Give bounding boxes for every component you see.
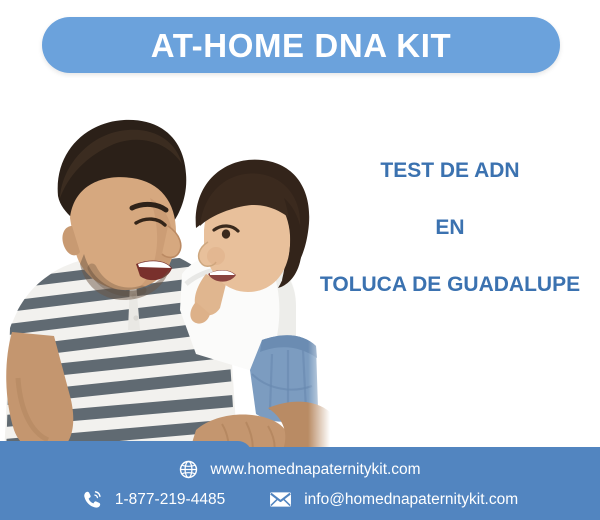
headline-line-en: EN bbox=[300, 217, 600, 238]
phone-icon bbox=[82, 489, 103, 510]
header-banner: AT-HOME DNA KIT bbox=[42, 17, 560, 73]
footer-phone[interactable]: 1-877-219-4485 bbox=[82, 489, 225, 510]
family-photo bbox=[0, 78, 330, 456]
page-title: AT-HOME DNA KIT bbox=[151, 29, 451, 62]
globe-icon bbox=[179, 460, 198, 479]
promo-banner: AT-HOME DNA KIT bbox=[0, 0, 600, 520]
family-photo-illustration bbox=[0, 78, 330, 456]
phone-label: 1-877-219-4485 bbox=[115, 492, 225, 508]
footer-website[interactable]: www.homednapaternitykit.com bbox=[179, 460, 420, 479]
footer-email[interactable]: info@homednapaternitykit.com bbox=[269, 490, 518, 509]
headline-line-test: TEST DE ADN bbox=[300, 160, 600, 181]
footer-row-contact: 1-877-219-4485 info@homednapaternitykit.… bbox=[0, 489, 600, 510]
headline-line-location: TOLUCA DE GUADALUPE bbox=[300, 274, 600, 295]
headline-block: TEST DE ADN EN TOLUCA DE GUADALUPE bbox=[300, 160, 600, 295]
envelope-icon bbox=[269, 490, 292, 509]
footer: www.homednapaternitykit.com 1-877-219-44… bbox=[0, 441, 600, 520]
email-label: info@homednapaternitykit.com bbox=[304, 492, 518, 508]
footer-row-website: www.homednapaternitykit.com bbox=[0, 460, 600, 479]
website-label: www.homednapaternitykit.com bbox=[210, 462, 420, 478]
